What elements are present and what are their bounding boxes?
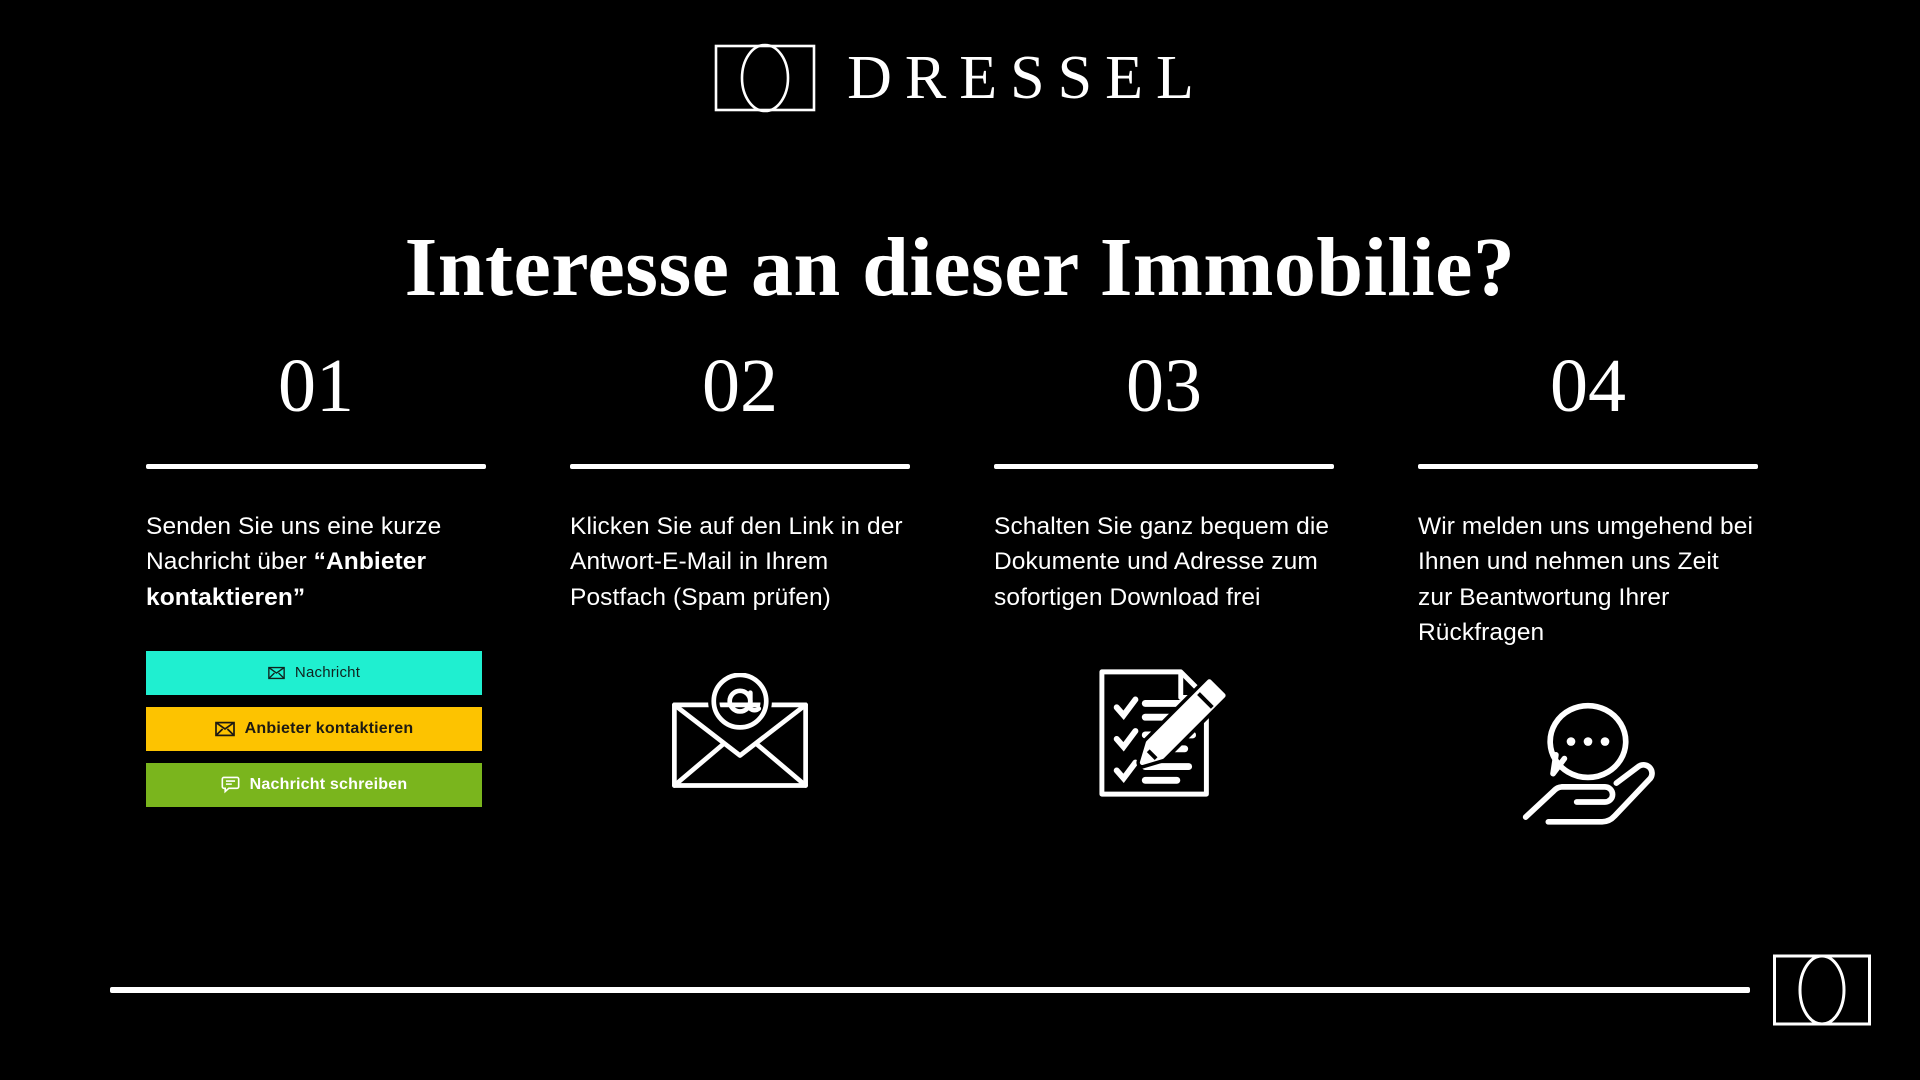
brand-wordmark: DRESSEL [843, 47, 1207, 109]
step-divider [146, 464, 486, 469]
step-description: Klicken Sie auf den Link in der Antwort-… [570, 509, 910, 615]
nachricht-button[interactable]: Nachricht [146, 651, 482, 695]
step-number: 02 [570, 348, 910, 434]
chat-message-icon [221, 775, 240, 794]
step-02: 02 Klicken Sie auf den Link in der Antwo… [570, 348, 910, 842]
nachricht-schreiben-button-label: Nachricht schreiben [250, 776, 408, 794]
envelope-icon [215, 721, 235, 737]
page-title: Interesse an dieser Immobilie? [0, 224, 1920, 312]
nachricht-schreiben-button[interactable]: Nachricht schreiben [146, 763, 482, 807]
dressel-monogram-icon [713, 42, 817, 114]
step-03: 03 Schalten Sie ganz bequem die Dokument… [994, 348, 1334, 842]
nachricht-button-label: Nachricht [295, 664, 360, 681]
checklist-pencil-icon [994, 659, 1334, 807]
step-number: 04 [1418, 348, 1758, 434]
step-number: 03 [994, 348, 1334, 434]
footer-divider [110, 987, 1750, 993]
step-04: 04 Wir melden uns umgehend bei Ihnen und… [1418, 348, 1758, 842]
step-description: Schalten Sie ganz bequem die Dokumente u… [994, 509, 1334, 615]
contact-buttons-illustration: Nachricht Anbieter kontaktieren [146, 651, 482, 807]
footer [110, 952, 1920, 1028]
step-description: Senden Sie uns eine kurze Nachricht über… [146, 509, 486, 615]
step-divider [570, 464, 910, 469]
step-divider [1418, 464, 1758, 469]
brand-header: DRESSEL [0, 42, 1920, 114]
steps-row: 01 Senden Sie uns eine kurze Nachricht ü… [146, 348, 1806, 842]
step-number: 01 [146, 348, 486, 434]
step-divider [994, 464, 1334, 469]
envelope-icon [268, 666, 285, 680]
chat-on-hand-icon [1418, 694, 1758, 842]
step-01: 01 Senden Sie uns eine kurze Nachricht ü… [146, 348, 486, 842]
step-description: Wir melden uns umgehend bei Ihnen und ne… [1418, 509, 1758, 650]
envelope-at-icon [570, 659, 910, 807]
anbieter-kontaktieren-button[interactable]: Anbieter kontaktieren [146, 707, 482, 751]
anbieter-kontaktieren-button-label: Anbieter kontaktieren [245, 720, 414, 738]
dressel-monogram-icon [1772, 952, 1872, 1028]
